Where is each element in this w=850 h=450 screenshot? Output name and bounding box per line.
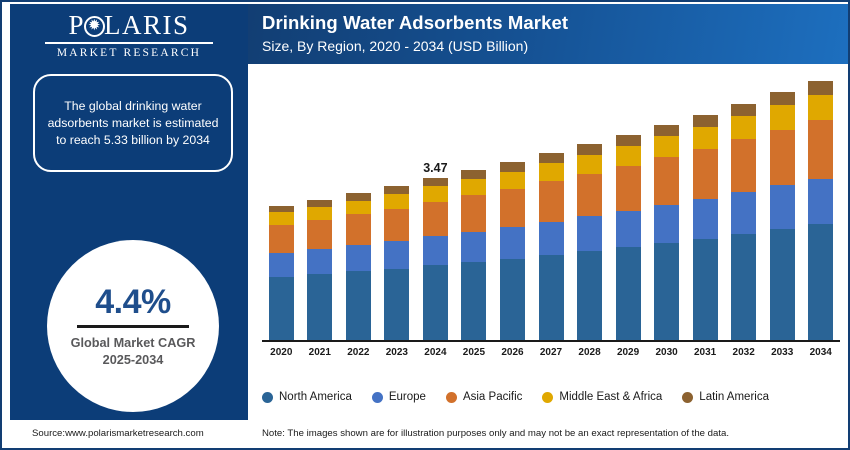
bar-segment[interactable] bbox=[654, 136, 679, 157]
bar-segment[interactable] bbox=[808, 95, 833, 120]
bar-segment[interactable] bbox=[461, 262, 486, 340]
footer-source-text: Source:www.polarismarketresearch.com bbox=[32, 428, 204, 439]
brand-logo-divider bbox=[45, 42, 213, 44]
bar-segment[interactable] bbox=[808, 179, 833, 225]
bar-segment[interactable] bbox=[539, 181, 564, 221]
infographic-root: P✹LARIS MARKET RESEARCH The global drink… bbox=[0, 0, 850, 450]
bar-segment[interactable] bbox=[616, 135, 641, 146]
bar-column[interactable] bbox=[693, 115, 718, 340]
bar-segment[interactable] bbox=[307, 274, 332, 340]
bar-segment[interactable] bbox=[616, 146, 641, 166]
bar-segment[interactable] bbox=[693, 199, 718, 239]
bar-segment[interactable] bbox=[269, 212, 294, 225]
bar-segment[interactable] bbox=[539, 163, 564, 181]
bar-segment[interactable] bbox=[423, 178, 448, 187]
x-axis-tick-2021: 2021 bbox=[298, 347, 342, 358]
bar-segment[interactable] bbox=[693, 127, 718, 149]
bar-segment[interactable] bbox=[500, 227, 525, 259]
bar-segment[interactable] bbox=[693, 149, 718, 199]
brand-tagline: MARKET RESEARCH bbox=[10, 47, 248, 59]
bar-segment[interactable] bbox=[384, 241, 409, 269]
market-estimate-callout: The global drinking water adsorbents mar… bbox=[33, 74, 233, 172]
bar-segment[interactable] bbox=[616, 211, 641, 247]
bar-column[interactable] bbox=[500, 162, 525, 340]
bar-segment[interactable] bbox=[461, 195, 486, 231]
x-axis-tick-2034: 2034 bbox=[799, 347, 843, 358]
footer-bar: Source:www.polarismarketresearch.com Not… bbox=[4, 422, 850, 448]
bar-segment[interactable] bbox=[654, 125, 679, 136]
bar-segment[interactable] bbox=[577, 216, 602, 251]
bar-segment[interactable] bbox=[269, 225, 294, 253]
bar-segment[interactable] bbox=[731, 104, 756, 117]
bar-segment[interactable] bbox=[577, 251, 602, 340]
bar-segment[interactable] bbox=[500, 172, 525, 189]
bar-segment[interactable] bbox=[770, 229, 795, 340]
bar-column[interactable] bbox=[654, 125, 679, 340]
bar-data-label: 3.47 bbox=[405, 161, 465, 175]
bar-segment[interactable] bbox=[808, 81, 833, 95]
bar-segment[interactable] bbox=[731, 192, 756, 234]
x-axis-tick-2027: 2027 bbox=[529, 347, 573, 358]
bar-segment[interactable] bbox=[770, 185, 795, 229]
footer-note-text: Note: The images shown are for illustrat… bbox=[262, 428, 729, 439]
bar-column[interactable] bbox=[346, 193, 371, 340]
cagr-badge: 4.4% Global Market CAGR 2025-2034 bbox=[47, 240, 219, 412]
legend-label: North America bbox=[279, 391, 352, 403]
x-axis-tick-2025: 2025 bbox=[452, 347, 496, 358]
legend-color-dot-icon bbox=[446, 392, 457, 403]
x-axis-tick-2029: 2029 bbox=[606, 347, 650, 358]
bar-segment[interactable] bbox=[616, 166, 641, 211]
bar-segment[interactable] bbox=[500, 189, 525, 227]
bar-column[interactable] bbox=[731, 104, 756, 341]
bar-segment[interactable] bbox=[770, 105, 795, 129]
bar-segment[interactable] bbox=[770, 92, 795, 105]
bar-segment[interactable] bbox=[654, 243, 679, 340]
bar-column[interactable] bbox=[307, 200, 332, 340]
bar-segment[interactable] bbox=[654, 157, 679, 205]
header-banner: Drinking Water Adsorbents Market Size, B… bbox=[248, 4, 850, 64]
x-axis-tick-2030: 2030 bbox=[645, 347, 689, 358]
star-burst-icon: ✹ bbox=[88, 20, 101, 33]
bar-segment[interactable] bbox=[461, 179, 486, 195]
bar-segment[interactable] bbox=[346, 271, 371, 340]
bar-segment[interactable] bbox=[770, 130, 795, 186]
bar-segment[interactable] bbox=[269, 277, 294, 340]
bar-segment[interactable] bbox=[577, 155, 602, 174]
bar-segment[interactable] bbox=[269, 253, 294, 277]
sidebar-panel: P✹LARIS MARKET RESEARCH The global drink… bbox=[10, 4, 248, 420]
bar-segment[interactable] bbox=[808, 120, 833, 179]
bar-segment[interactable] bbox=[808, 224, 833, 340]
bar-segment[interactable] bbox=[423, 265, 448, 340]
legend-color-dot-icon bbox=[682, 392, 693, 403]
cagr-label-period: 2025-2034 bbox=[103, 352, 164, 369]
bar-segment[interactable] bbox=[616, 247, 641, 340]
bar-segment[interactable] bbox=[269, 206, 294, 213]
bar-segment[interactable] bbox=[731, 116, 756, 139]
bar-segment[interactable] bbox=[307, 249, 332, 274]
legend-label: Europe bbox=[389, 391, 426, 403]
bar-segment[interactable] bbox=[731, 139, 756, 192]
bar-column[interactable] bbox=[808, 81, 833, 340]
bar-segment[interactable] bbox=[346, 201, 371, 215]
page-subtitle: Size, By Region, 2020 - 2034 (USD Billio… bbox=[262, 35, 850, 57]
legend-color-dot-icon bbox=[372, 392, 383, 403]
legend-label: Latin America bbox=[699, 391, 769, 403]
brand-logo: P✹LARIS MARKET RESEARCH bbox=[10, 10, 248, 59]
bar-column[interactable] bbox=[577, 144, 602, 340]
bar-segment[interactable] bbox=[307, 200, 332, 207]
bar-segment[interactable] bbox=[384, 269, 409, 340]
legend-color-dot-icon bbox=[542, 392, 553, 403]
brand-logo-wordmark: P✹LARIS bbox=[68, 10, 189, 40]
bar-segment[interactable] bbox=[731, 234, 756, 340]
x-axis-tick-2023: 2023 bbox=[375, 347, 419, 358]
bar-segment[interactable] bbox=[693, 115, 718, 127]
legend-color-dot-icon bbox=[262, 392, 273, 403]
chart-panel: 3.47 20202021202220232024202520262027202… bbox=[248, 64, 850, 420]
bar-segment[interactable] bbox=[577, 144, 602, 154]
bar-segment[interactable] bbox=[539, 222, 564, 255]
bar-segment[interactable] bbox=[539, 153, 564, 163]
x-axis-tick-2028: 2028 bbox=[568, 347, 612, 358]
bar-segment[interactable] bbox=[346, 214, 371, 244]
cagr-divider bbox=[77, 325, 189, 328]
chart-legend: North AmericaEuropeAsia PacificMiddle Ea… bbox=[262, 386, 840, 408]
bar-segment[interactable] bbox=[423, 236, 448, 265]
bar-column[interactable] bbox=[461, 170, 486, 340]
legend-item-asia-pacific[interactable]: Asia Pacific bbox=[446, 391, 522, 403]
legend-item-europe[interactable]: Europe bbox=[372, 391, 426, 403]
chart-plot-area: 3.47 bbox=[262, 64, 840, 340]
x-axis-tick-2031: 2031 bbox=[683, 347, 727, 358]
x-axis-tick-labels: 2020202120222023202420252026202720282029… bbox=[262, 344, 840, 362]
legend-label: Asia Pacific bbox=[463, 391, 522, 403]
legend-item-middle-east-africa[interactable]: Middle East & Africa bbox=[542, 391, 662, 403]
cagr-value: 4.4% bbox=[95, 283, 171, 321]
legend-item-north-america[interactable]: North America bbox=[262, 391, 352, 403]
brand-logo-letters-laris: LARIS bbox=[104, 10, 190, 40]
bar-segment[interactable] bbox=[384, 194, 409, 209]
legend-item-latin-america[interactable]: Latin America bbox=[682, 391, 769, 403]
page-title: Drinking Water Adsorbents Market bbox=[262, 11, 850, 35]
x-axis-tick-2026: 2026 bbox=[490, 347, 534, 358]
bar-segment[interactable] bbox=[307, 220, 332, 249]
bar-column[interactable] bbox=[269, 206, 294, 340]
bar-segment[interactable] bbox=[539, 255, 564, 340]
bar-column[interactable] bbox=[770, 92, 795, 340]
brand-logo-letter-p: P bbox=[68, 10, 85, 40]
bar-segment[interactable] bbox=[461, 232, 486, 262]
bar-segment[interactable] bbox=[423, 186, 448, 202]
bar-column[interactable] bbox=[539, 153, 564, 340]
bar-segment[interactable] bbox=[500, 259, 525, 340]
bar-segment[interactable] bbox=[307, 207, 332, 220]
bar-segment[interactable] bbox=[346, 193, 371, 201]
bar-column[interactable] bbox=[384, 186, 409, 340]
x-axis-line bbox=[262, 340, 840, 342]
cagr-label-primary: Global Market CAGR bbox=[71, 335, 196, 352]
x-axis-tick-2022: 2022 bbox=[336, 347, 380, 358]
bar-segment[interactable] bbox=[423, 202, 448, 236]
bar-segment[interactable] bbox=[384, 209, 409, 241]
bar-segment[interactable] bbox=[577, 174, 602, 216]
bar-segment[interactable] bbox=[500, 162, 525, 172]
bar-segment[interactable] bbox=[346, 245, 371, 272]
bar-segment[interactable] bbox=[654, 205, 679, 243]
bar-column[interactable] bbox=[616, 135, 641, 340]
x-axis-tick-2033: 2033 bbox=[760, 347, 804, 358]
bar-segment[interactable] bbox=[693, 239, 718, 340]
bar-column[interactable] bbox=[423, 178, 448, 340]
compass-star-icon: ✹ bbox=[84, 16, 105, 37]
legend-label: Middle East & Africa bbox=[559, 391, 662, 403]
market-estimate-text: The global drinking water adsorbents mar… bbox=[43, 98, 223, 149]
bar-segment[interactable] bbox=[384, 186, 409, 194]
x-axis-tick-2020: 2020 bbox=[259, 347, 303, 358]
x-axis-tick-2024: 2024 bbox=[413, 347, 457, 358]
x-axis-tick-2032: 2032 bbox=[722, 347, 766, 358]
